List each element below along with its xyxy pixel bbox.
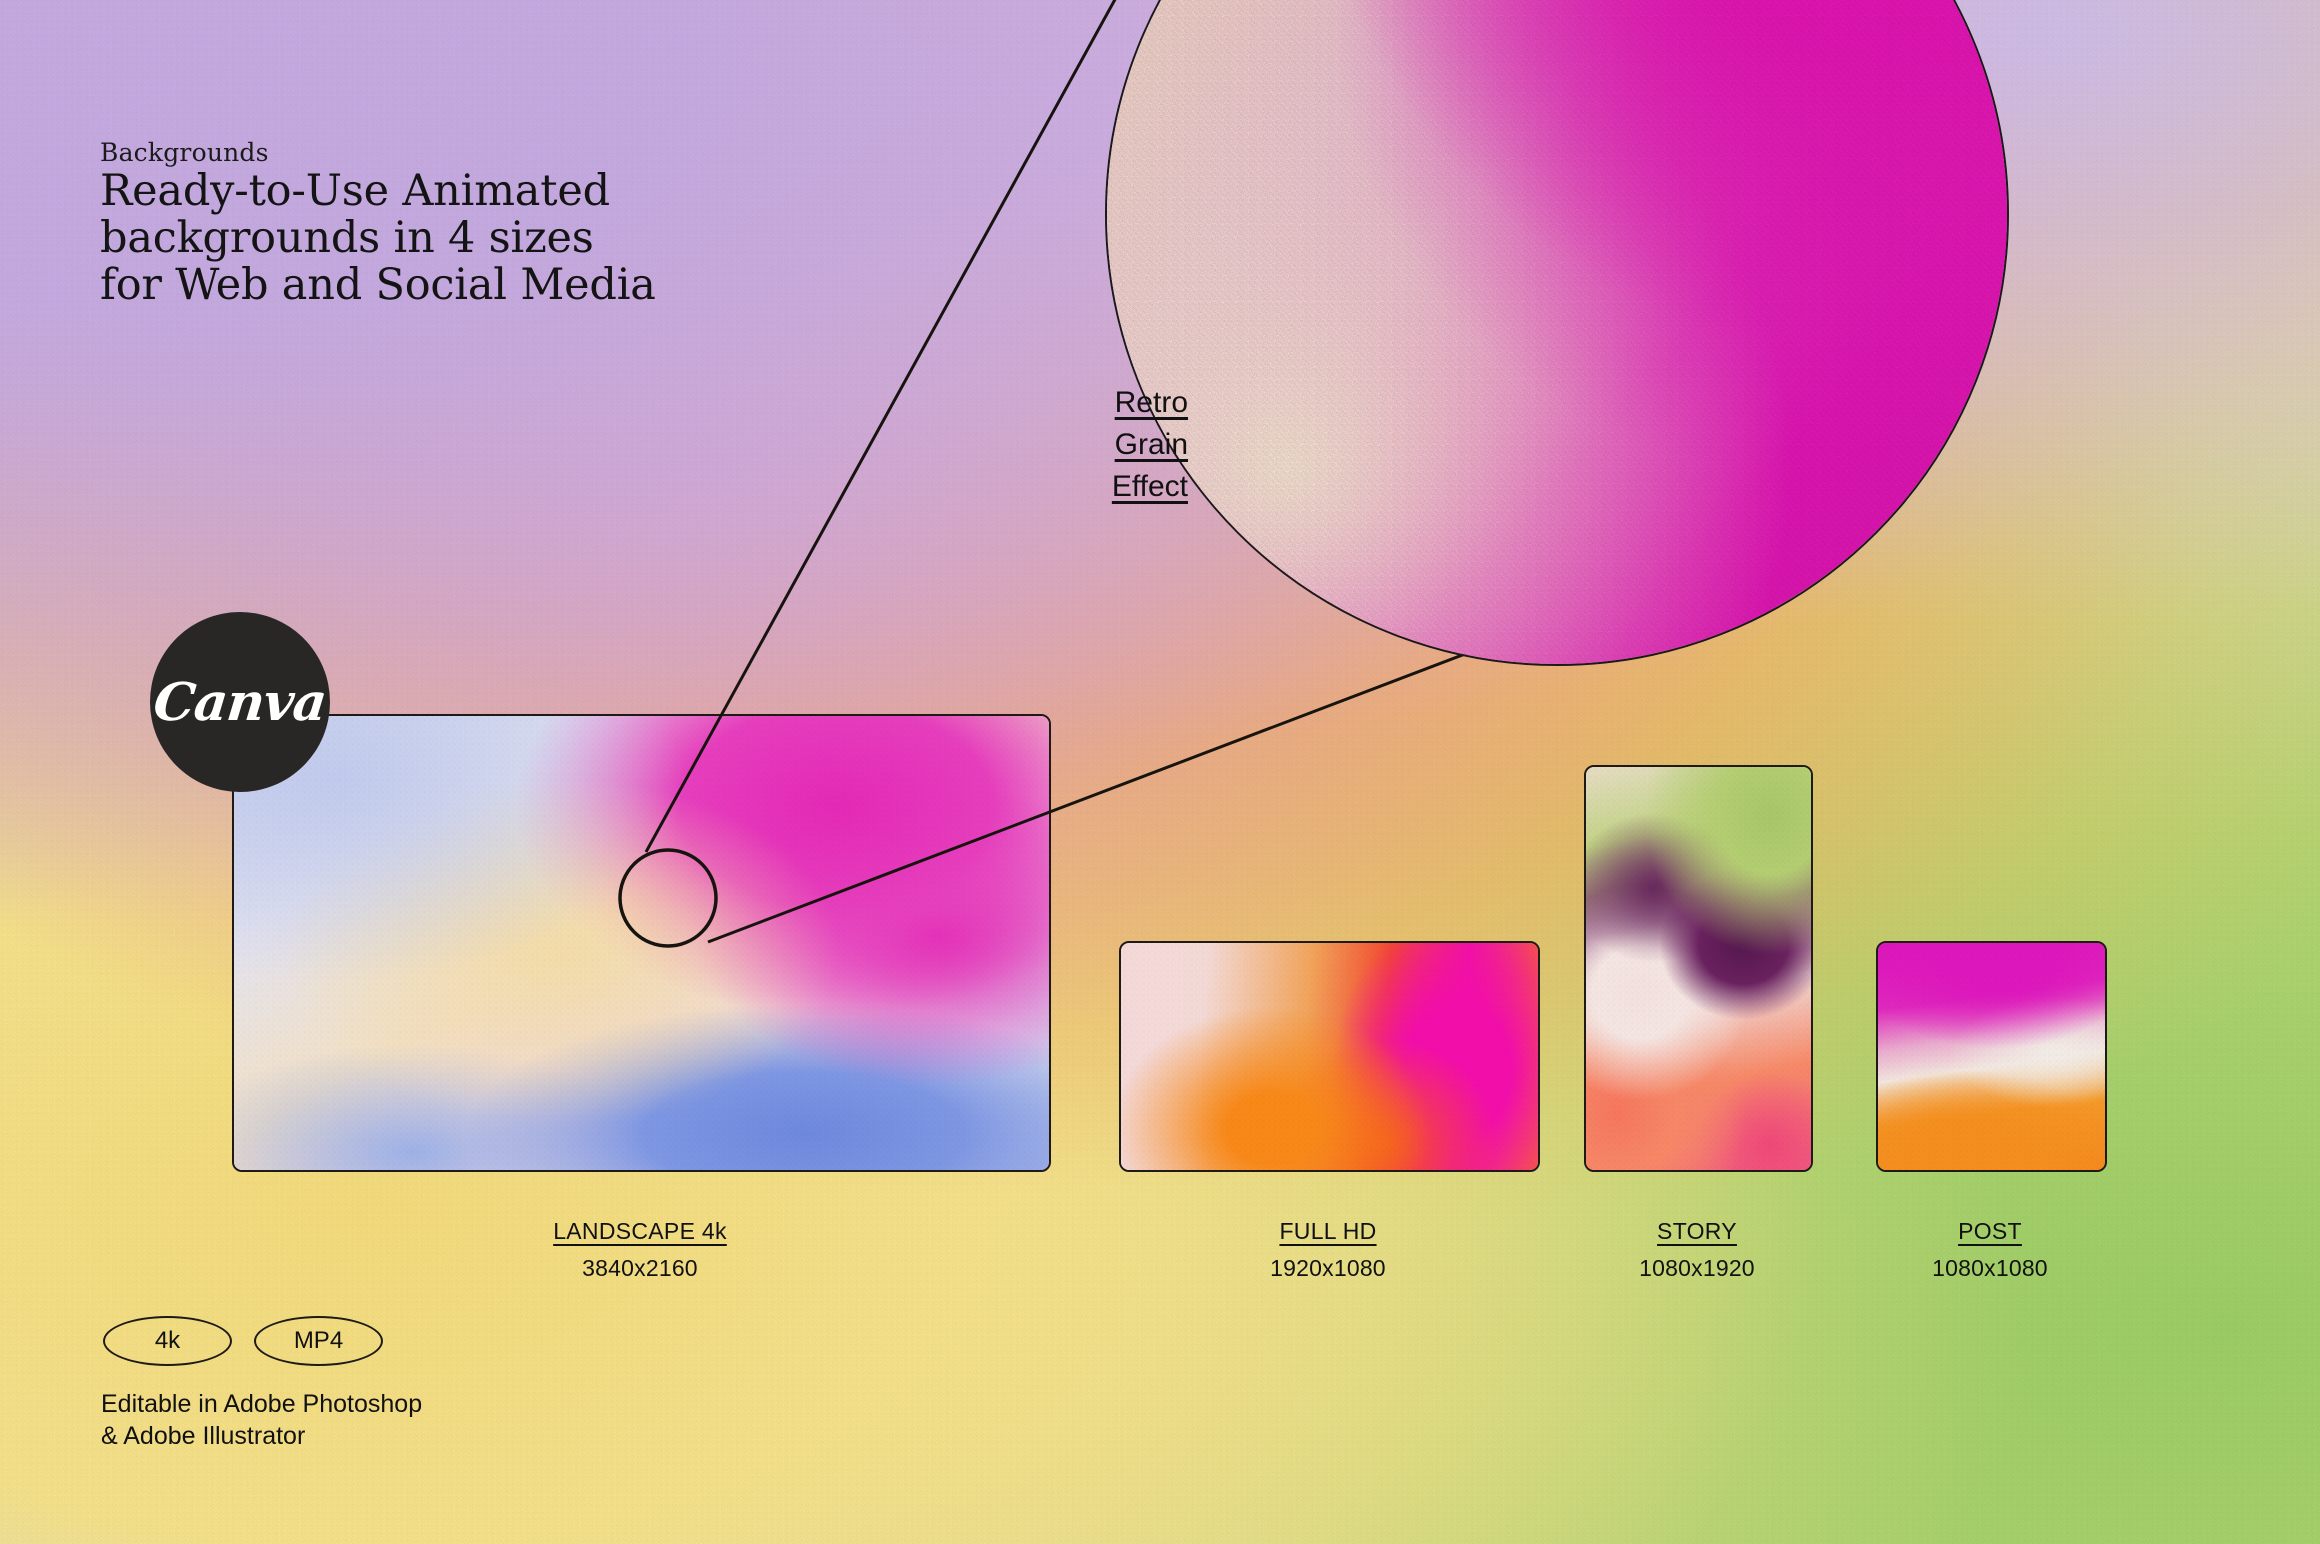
preview-grain-story xyxy=(1586,767,1811,1170)
preview-grain-post xyxy=(1878,943,2105,1170)
poster-canvas: Backgrounds Ready-to-Use Animated backgr… xyxy=(0,0,2320,1544)
canva-logo: Canva xyxy=(150,612,330,792)
caption-post: POST 1080x1080 xyxy=(1800,1218,2180,1282)
retro-label-line-2: Grain xyxy=(1048,424,1188,466)
caption-post-dims: 1080x1080 xyxy=(1800,1255,2180,1282)
caption-post-name: POST xyxy=(1958,1218,2022,1245)
page-title: Ready-to-Use Animated backgrounds in 4 s… xyxy=(100,168,656,309)
caption-landscape-name: LANDSCAPE 4k xyxy=(553,1218,727,1245)
preview-grain-landscape xyxy=(234,716,1049,1170)
caption-landscape-dims: 3840x2160 xyxy=(440,1255,840,1282)
caption-landscape: LANDSCAPE 4k 3840x2160 xyxy=(440,1218,840,1282)
preview-frame-story[interactable] xyxy=(1584,765,1813,1172)
format-badges: 4k MP4 xyxy=(103,1316,383,1366)
preview-frame-post[interactable] xyxy=(1876,941,2107,1172)
caption-story-name: STORY xyxy=(1657,1218,1737,1245)
canva-wordmark: Canva xyxy=(151,672,329,733)
retro-grain-effect-label: Retro Grain Effect xyxy=(1048,382,1188,508)
preview-grain-fullhd xyxy=(1121,943,1538,1170)
preview-frame-landscape[interactable] xyxy=(232,714,1051,1172)
eyebrow-label: Backgrounds xyxy=(100,138,269,167)
caption-fullhd-name: FULL HD xyxy=(1279,1218,1376,1245)
editable-software-note: Editable in Adobe Photoshop & Adobe Illu… xyxy=(101,1388,422,1452)
badge-4k: 4k xyxy=(103,1316,232,1366)
caption-fullhd: FULL HD 1920x1080 xyxy=(1128,1218,1528,1282)
magnified-lens-circle xyxy=(1105,0,2009,666)
lens-grain-texture xyxy=(1107,0,2007,664)
retro-label-line-1: Retro xyxy=(1048,382,1188,424)
caption-fullhd-dims: 1920x1080 xyxy=(1128,1255,1528,1282)
preview-frame-fullhd[interactable] xyxy=(1119,941,1540,1172)
retro-label-line-3: Effect xyxy=(1048,466,1188,508)
badge-mp4: MP4 xyxy=(254,1316,383,1366)
